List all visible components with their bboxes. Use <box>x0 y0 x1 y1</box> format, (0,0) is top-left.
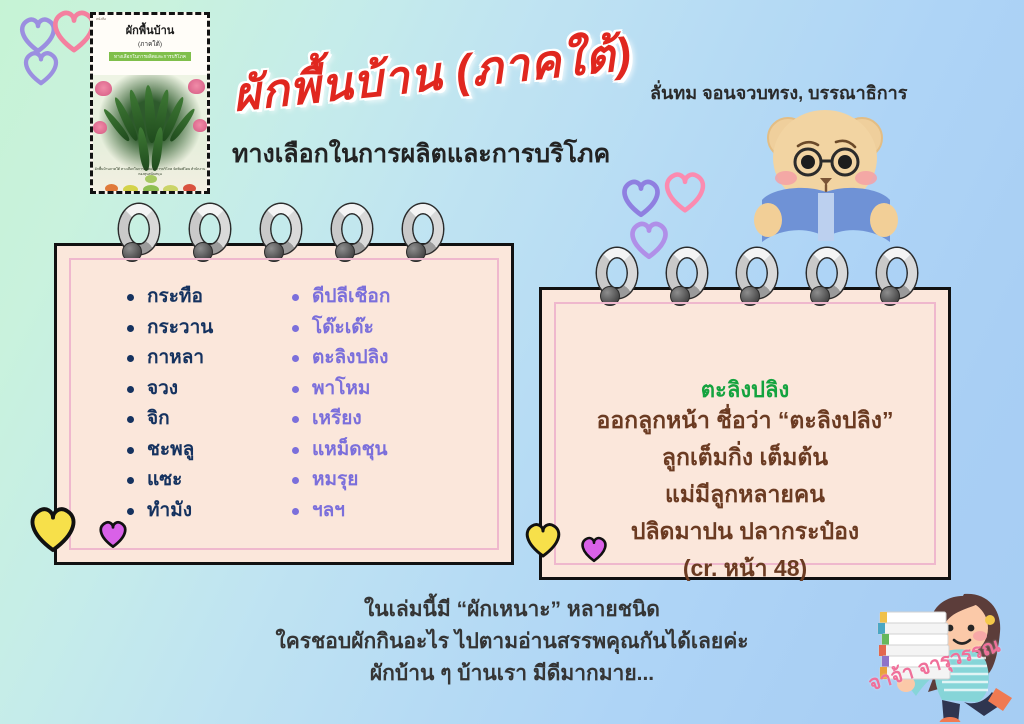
book-cover-thumbnail: หนังสือ ผักพื้นบ้าน (ภาคใต้) ทางเลือกในก… <box>90 12 210 194</box>
book-cover-top: หนังสือ ผักพื้นบ้าน (ภาคใต้) ทางเลือกในก… <box>93 15 207 75</box>
list-item: แหม็ดชุน <box>290 435 390 466</box>
spiral-rings-left <box>57 204 511 264</box>
list-item: จวง <box>125 374 213 405</box>
list-item: เหรียง <box>290 404 390 435</box>
book-cover-subtitle: (ภาคใต้) <box>93 39 207 49</box>
poem-line: ลูกเต็มกิ่ง เต็มต้น <box>542 439 948 476</box>
list-item: ฯลฯ <box>290 496 390 527</box>
heart-outline-pink-mid <box>660 168 710 214</box>
page-subtitle: ทางเลือกในการผลิตและการบริโภค <box>232 134 610 174</box>
book-cover-micro-label: หนังสือ <box>96 17 106 22</box>
poster-canvas: หนังสือ ผักพื้นบ้าน (ภาคใต้) ทางเลือกในก… <box>0 0 1024 724</box>
book-cover-band: ทางเลือกในการผลิตและการบริโภค <box>109 52 191 61</box>
list-item: จิก <box>125 404 213 435</box>
list-item: กาหลา <box>125 343 213 374</box>
vegetable-list-left-column: กระทือ กระวาน กาหลา จวง จิก ชะพลู แซะ ทำ… <box>125 282 213 526</box>
heart-solid-magenta-left <box>96 518 130 549</box>
bear-reading-book-icon <box>746 96 906 244</box>
list-item: หมรุย <box>290 465 390 496</box>
poem-line: แม่มีลูกหลายคน <box>542 476 948 513</box>
heart-solid-magenta-mid <box>578 534 610 563</box>
heart-solid-yellow-left <box>24 502 82 554</box>
list-item: พาโหม <box>290 374 390 405</box>
list-item: กระทือ <box>125 282 213 313</box>
notepad-vegetable-list: กระทือ กระวาน กาหลา จวง จิก ชะพลู แซะ ทำ… <box>54 243 514 565</box>
page-title: ผักพื้นบ้าน (ภาคใต้) <box>229 17 635 131</box>
list-item: ชะพลู <box>125 435 213 466</box>
list-item: แซะ <box>125 465 213 496</box>
heart-solid-yellow-mid <box>521 519 565 559</box>
list-item: ตะลิงปลิง <box>290 343 390 374</box>
heart-outline-purple-topleft-2 <box>20 48 62 86</box>
vegetable-list-right-column: ดีปลีเชือก โด๊ะเด๊ะ ตะลิงปลิง พาโหม เหรี… <box>290 282 390 526</box>
list-item: ทำมัง <box>125 496 213 527</box>
book-cover-title: ผักพื้นบ้าน <box>93 25 207 38</box>
book-cover-illustration: ผักพื้นบ้านภาคใต้ ทางเลือกในการผลิตและกา… <box>93 75 207 194</box>
heart-outline-purple-mid <box>618 176 664 218</box>
list-item: ดีปลีเชือก <box>290 282 390 313</box>
poem-line: ออกลูกหน้า ชื่อว่า “ตะลิงปลิง” <box>542 402 948 439</box>
spiral-rings-right <box>542 248 948 308</box>
list-item: โด๊ะเด๊ะ <box>290 313 390 344</box>
list-item: กระวาน <box>125 313 213 344</box>
